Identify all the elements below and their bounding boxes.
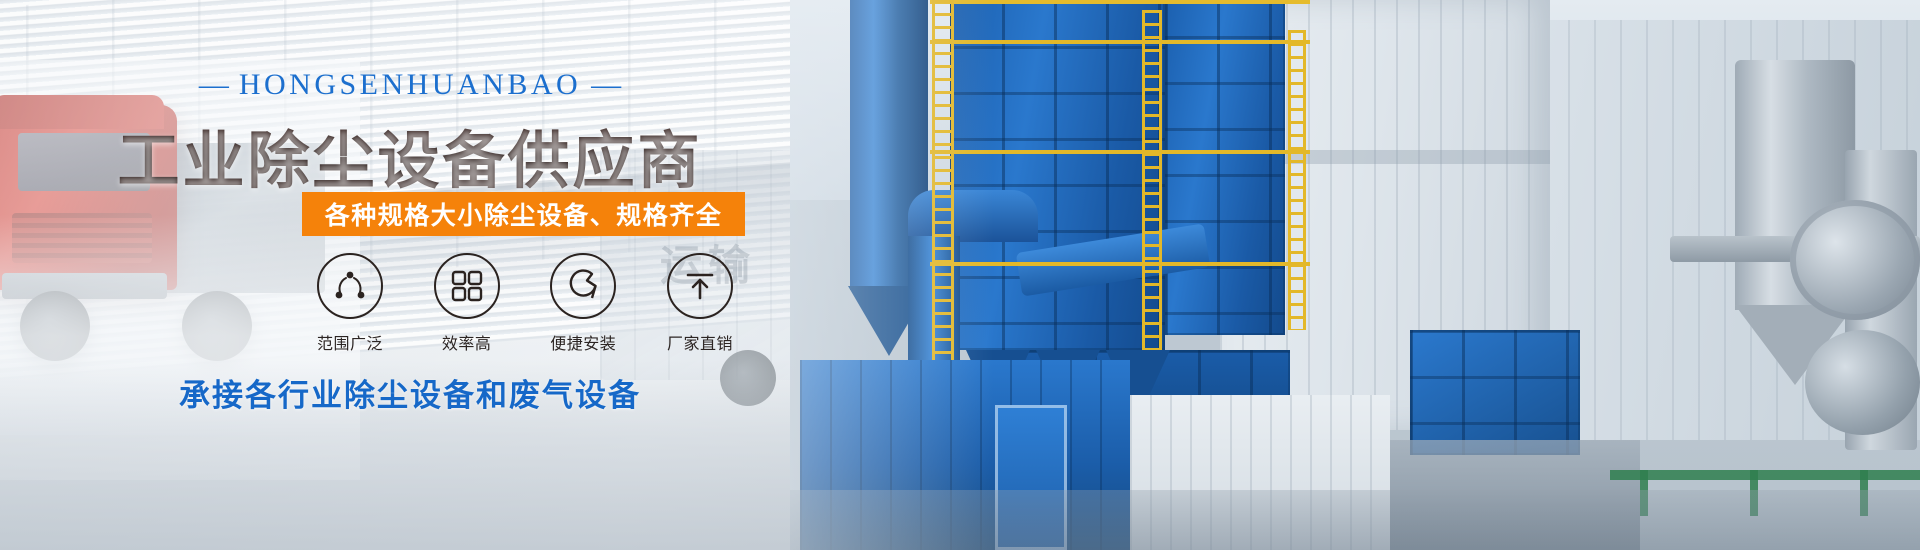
baghouse-module xyxy=(1165,0,1285,335)
tagline: 承接各行业除尘设备和废气设备 xyxy=(0,370,820,415)
baghouse-panels xyxy=(1165,0,1285,335)
baghouse-module xyxy=(1410,330,1580,455)
page-title: 工业除尘设备供应商 xyxy=(0,110,820,200)
feature-item-3[interactable]: 便捷安装 xyxy=(533,253,633,354)
hero-content: —HONGSENHUANBAO— 工业除尘设备供应商 各种规格大小除尘设备、规格… xyxy=(0,0,820,550)
grid-squares-icon xyxy=(450,269,484,303)
feature-icon-circle xyxy=(317,253,383,319)
feature-item-1[interactable]: 范围广泛 xyxy=(300,253,400,354)
feature-icon-circle xyxy=(434,253,500,319)
round-duct-opening xyxy=(1790,200,1920,320)
feature-label: 范围广泛 xyxy=(300,330,400,354)
feature-label: 便捷安装 xyxy=(533,330,633,354)
green-handrail xyxy=(1610,470,1920,480)
hero-banner: 运输 xyxy=(0,0,1920,550)
dash-left: — xyxy=(189,68,239,101)
baghouse-panels xyxy=(1410,330,1580,455)
access-ladder xyxy=(1288,30,1306,330)
subtitle-text: 各种规格大小除尘设备、规格齐全 xyxy=(325,196,723,232)
feature-icon-circle xyxy=(550,253,616,319)
upload-arrow-icon xyxy=(683,269,717,303)
round-duct-opening xyxy=(1805,330,1920,435)
subtitle-orange-bar: 各种规格大小除尘设备、规格齐全 xyxy=(302,192,745,236)
brand-pinyin-text: HONGSENHUANBAO xyxy=(239,68,581,101)
dash-right: — xyxy=(581,68,631,101)
brand-pinyin-eyebrow: —HONGSENHUANBAO— xyxy=(0,68,820,102)
feature-icon-circle xyxy=(667,253,733,319)
feature-label: 效率高 xyxy=(417,330,517,354)
network-nodes-icon xyxy=(332,268,368,304)
feature-label: 厂家直销 xyxy=(650,330,750,354)
wrench-icon xyxy=(565,268,601,304)
feature-item-4[interactable]: 厂家直销 xyxy=(650,253,750,354)
feature-list: 范围广泛 效率高 xyxy=(300,253,750,354)
feature-item-2[interactable]: 效率高 xyxy=(417,253,517,354)
